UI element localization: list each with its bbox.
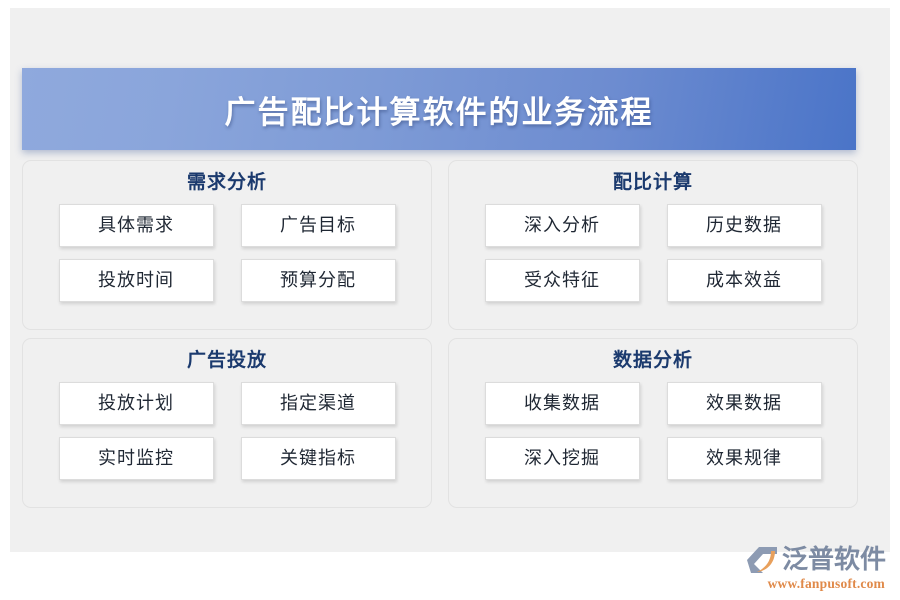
panel-data-analysis: 数据分析 收集数据 效果数据 深入挖掘 效果规律	[448, 338, 858, 508]
panel-requirement-analysis: 需求分析 具体需求 广告目标 投放时间 预算分配	[22, 160, 432, 330]
item-label: 指定渠道	[280, 394, 356, 412]
item-box[interactable]: 成本效益	[667, 259, 822, 302]
item-box[interactable]: 深入分析	[485, 204, 640, 247]
item-label: 具体需求	[98, 216, 174, 234]
item-box[interactable]: 收集数据	[485, 382, 640, 425]
item-label: 关键指标	[280, 449, 356, 467]
item-label: 效果数据	[706, 394, 782, 412]
flowchart-page: 广告配比计算软件的业务流程 需求分析 具体需求 广告目标 投放时间 预算分配	[0, 0, 900, 600]
item-box[interactable]: 指定渠道	[241, 382, 396, 425]
panel-header: 广告投放	[187, 351, 267, 372]
item-box[interactable]: 投放时间	[59, 259, 214, 302]
panel-ad-delivery: 广告投放 投放计划 指定渠道 实时监控 关键指标	[22, 338, 432, 508]
item-label: 广告目标	[280, 216, 356, 234]
item-label: 预算分配	[280, 271, 356, 289]
item-box[interactable]: 关键指标	[241, 437, 396, 480]
item-box[interactable]: 广告目标	[241, 204, 396, 247]
item-label: 深入挖掘	[524, 449, 600, 467]
item-box[interactable]: 深入挖掘	[485, 437, 640, 480]
panel-items: 收集数据 效果数据 深入挖掘 效果规律	[485, 382, 822, 480]
panel-grid: 需求分析 具体需求 广告目标 投放时间 预算分配 配比计算	[22, 160, 858, 508]
item-box[interactable]: 效果数据	[667, 382, 822, 425]
item-box[interactable]: 效果规律	[667, 437, 822, 480]
panel-header: 数据分析	[613, 351, 693, 372]
item-label: 实时监控	[98, 449, 174, 467]
panel-items: 深入分析 历史数据 受众特征 成本效益	[485, 204, 822, 302]
brand-top-row: 泛普软件	[745, 545, 886, 575]
item-box[interactable]: 具体需求	[59, 204, 214, 247]
panel-items: 具体需求 广告目标 投放时间 预算分配	[59, 204, 396, 302]
fanpu-logo-icon	[745, 545, 779, 575]
panel-header: 需求分析	[187, 173, 267, 194]
brand-watermark: 泛普软件 www.fanpusoft.com	[745, 545, 886, 592]
item-box[interactable]: 历史数据	[667, 204, 822, 247]
item-label: 受众特征	[524, 271, 600, 289]
panel-header: 配比计算	[613, 173, 693, 194]
item-label: 历史数据	[706, 216, 782, 234]
brand-name: 泛普软件	[782, 547, 886, 573]
item-label: 收集数据	[524, 394, 600, 412]
panel-ratio-calculation: 配比计算 深入分析 历史数据 受众特征 成本效益	[448, 160, 858, 330]
page-title: 广告配比计算软件的业务流程	[225, 87, 654, 132]
item-box[interactable]: 受众特征	[485, 259, 640, 302]
item-label: 投放时间	[98, 271, 174, 289]
item-label: 投放计划	[98, 394, 174, 412]
panel-items: 投放计划 指定渠道 实时监控 关键指标	[59, 382, 396, 480]
item-label: 效果规律	[706, 449, 782, 467]
title-banner: 广告配比计算软件的业务流程	[22, 68, 856, 150]
brand-url: www.fanpusoft.com	[768, 576, 885, 592]
item-box[interactable]: 预算分配	[241, 259, 396, 302]
item-label: 成本效益	[706, 271, 782, 289]
item-label: 深入分析	[524, 216, 600, 234]
item-box[interactable]: 实时监控	[59, 437, 214, 480]
item-box[interactable]: 投放计划	[59, 382, 214, 425]
